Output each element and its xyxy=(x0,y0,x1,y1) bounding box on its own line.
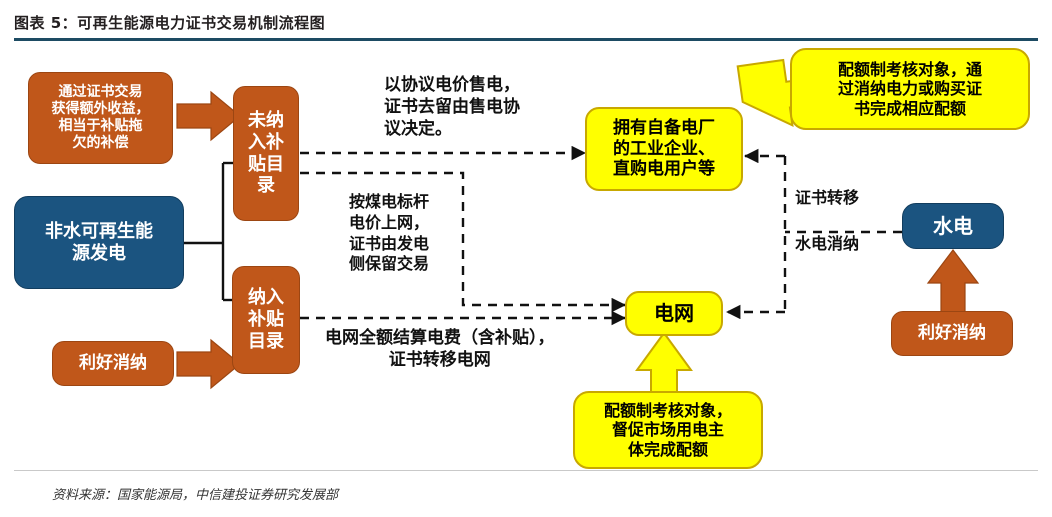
node-grid[interactable]: 电网 xyxy=(625,291,723,336)
figure-title: 图表 5：可再生能源电力证书交易机制流程图 xyxy=(14,12,325,33)
bracket-connector xyxy=(183,163,233,300)
label-coal-benchmark: 按煤电标杆 电价上网， 证书由发电 侧保留交易 xyxy=(349,192,429,275)
arrow-up-icon-bottom xyxy=(637,333,691,400)
node-note-cert-revenue[interactable]: 通过证书交易 获得额外收益， 相当于补贴拖 欠的补偿 xyxy=(28,72,173,164)
node-in-subsidy[interactable]: 纳入 补贴 目录 xyxy=(232,266,300,374)
source-note: 资料来源：国家能源局，中信建投证券研究发展部 xyxy=(52,484,338,503)
title-divider xyxy=(14,38,1038,41)
source-divider xyxy=(14,470,1038,471)
node-hydro[interactable]: 水电 xyxy=(902,203,1004,249)
figure-root: 图表 5：可再生能源电力证书交易机制流程图 xyxy=(0,0,1052,517)
label-cert-transfer: 证书转移 xyxy=(795,188,859,209)
arrow-right-icon-2 xyxy=(177,340,240,388)
node-industrial-users[interactable]: 拥有自备电厂 的工业企业、 直购电用户等 xyxy=(585,107,743,191)
label-agreement-price: 以协议电价售电， 证书去留由售电协 议决定。 xyxy=(384,74,520,140)
node-benefit-consume-right[interactable]: 利好消纳 xyxy=(891,311,1013,356)
label-grid-settlement: 电网全额结算电费（含补贴）， 证书转移电网 xyxy=(325,327,555,371)
node-not-in-subsidy[interactable]: 未纳 入补 贴目 录 xyxy=(233,86,299,221)
arrow-up-icon-right xyxy=(928,250,978,312)
node-gen-nonhydro[interactable]: 非水可再生能 源发电 xyxy=(14,196,184,289)
label-hydro-consume: 水电消纳 xyxy=(795,234,859,255)
callout-quota-bottom[interactable]: 配额制考核对象， 督促市场用电主 体完成配额 xyxy=(573,391,763,469)
node-benefit-consume-left[interactable]: 利好消纳 xyxy=(52,341,174,386)
arrow-right-icon-1 xyxy=(177,92,240,140)
callout-quota-top[interactable]: 配额制考核对象，通 过消纳电力或购买证 书完成相应配额 xyxy=(790,48,1030,130)
